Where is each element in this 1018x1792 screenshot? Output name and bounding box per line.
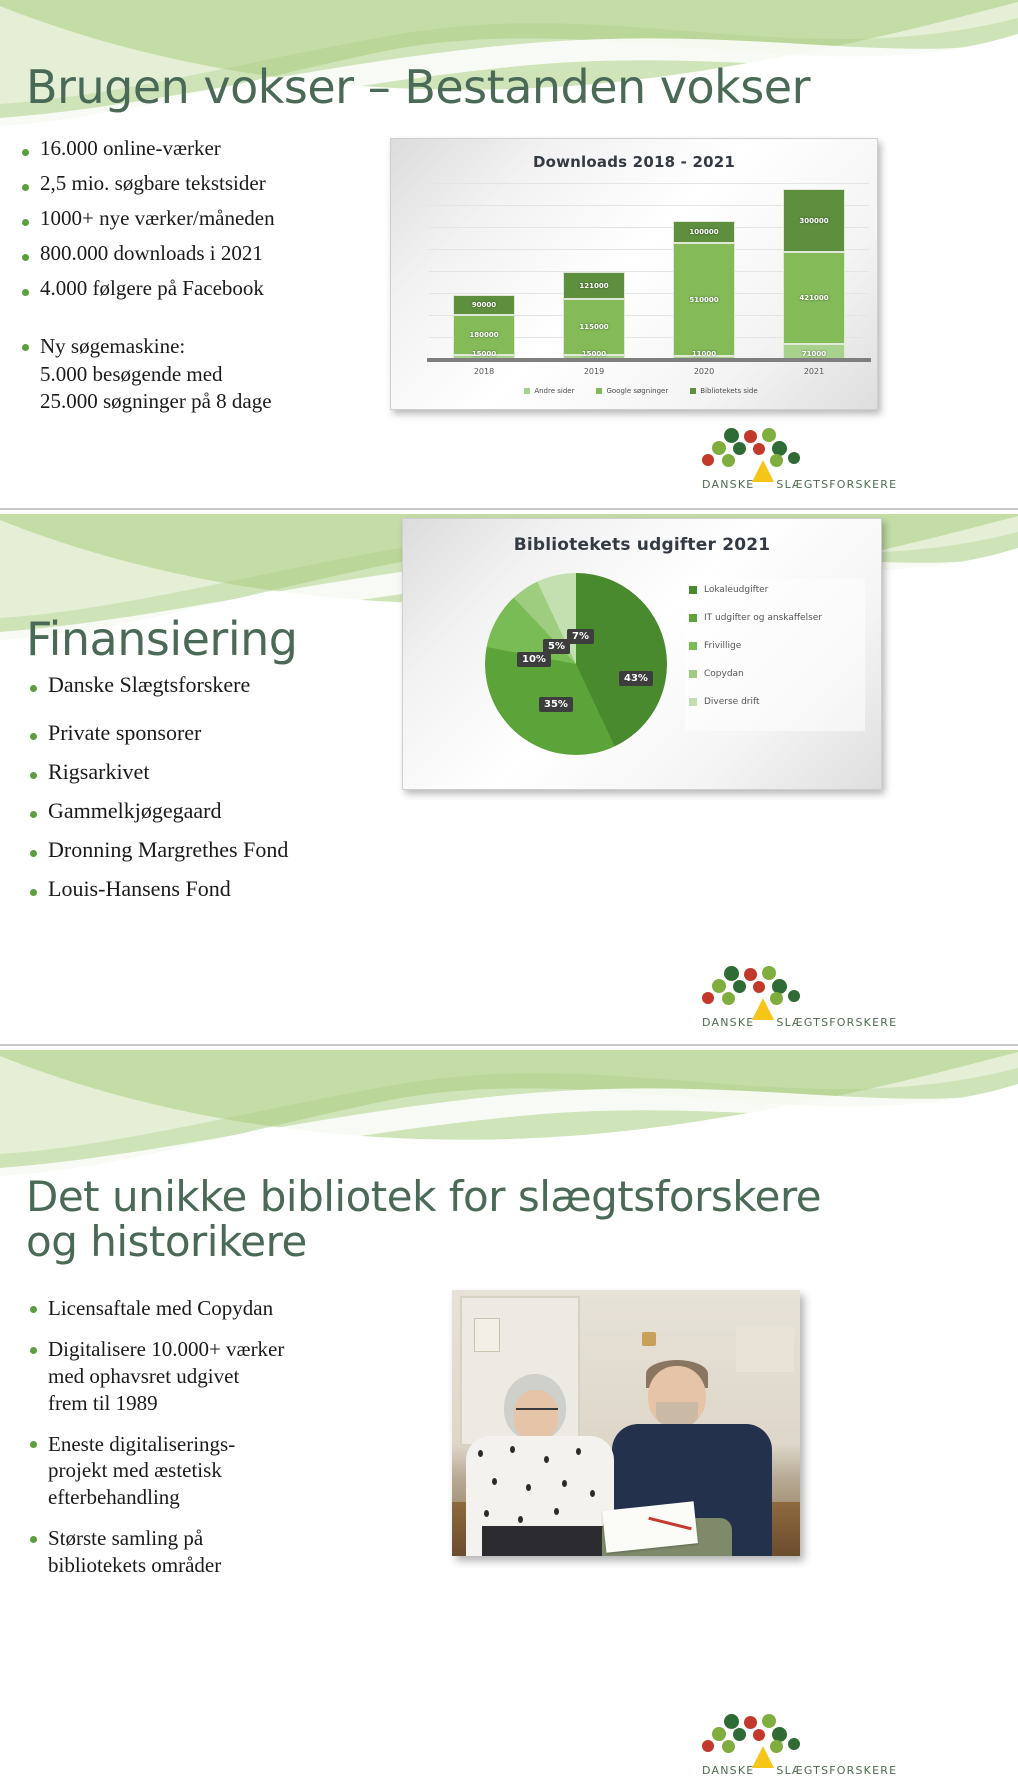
search-engine-line-1: Ny søgemaskine:	[40, 333, 388, 361]
bar-chart-plot-area: 90000 180000 15000 121000	[429, 183, 869, 359]
slide-1: Brugen vokser – Bestanden vokser 16.000 …	[0, 0, 1018, 508]
bar-chart-legend: Andre sider Google søgninger Biblioteket…	[461, 387, 821, 395]
bar-series-group: 90000 180000 15000 121000	[429, 183, 869, 359]
pie-label-lokaleudgifter: 43%	[619, 671, 653, 686]
logo-word-right: SLÆGTSFORSKERE	[776, 478, 897, 491]
list-item-line: Eneste digitaliserings-	[48, 1431, 386, 1458]
list-item: Licensaftale med Copydan	[26, 1295, 386, 1322]
bar-segment-google-2019: 115000	[563, 299, 625, 355]
bar-value-label: 11000	[674, 350, 734, 358]
logo-wordmark: DANSKESLÆGTSFORSKERE	[702, 1764, 897, 1777]
bar-value-label: 100000	[674, 228, 734, 236]
list-item: Største samling på bibliotekets områder	[26, 1525, 386, 1579]
legend-item-google-sogninger: Google søgninger	[596, 387, 668, 395]
logo-danske-slaegtsforskere: DANSKESLÆGTSFORSKERE	[700, 1714, 878, 1778]
bar-value-label: 15000	[564, 350, 624, 358]
list-item: Digitalisere 10.000+ værker med ophavsre…	[26, 1336, 386, 1417]
x-tick-2018: 2018	[453, 367, 515, 376]
list-item-line: med ophavsret udgivet	[48, 1363, 386, 1390]
legend-label: Diverse drift	[704, 697, 760, 707]
page-title: Finansiering	[26, 612, 297, 666]
pie-chart-legend: Lokaleudgifter IT udgifter og anskaffels…	[685, 579, 865, 731]
logo-danske-slaegtsforskere: DANSKESLÆGTSFORSKERE	[700, 428, 878, 492]
page-title: Det unikke bibliotek for slægtsforskere …	[26, 1175, 866, 1264]
list-item-line: projekt med æstetisk	[48, 1457, 386, 1484]
legend-swatch-icon	[689, 642, 697, 650]
legend-item-diverse-drift: Diverse drift	[689, 697, 861, 707]
bullet-list-slide-1: 16.000 online-værker 2,5 mio. søgbare te…	[18, 138, 388, 430]
downloads-bar-chart: Downloads 2018 - 2021 90000	[390, 138, 878, 410]
list-item: Private sponsorer	[26, 722, 386, 744]
logo-danske-slaegtsforskere: DANSKESLÆGTSFORSKERE	[700, 966, 878, 1030]
legend-label: Frivillige	[704, 641, 741, 651]
page-title: Brugen vokser – Bestanden vokser	[26, 60, 810, 114]
legend-swatch-icon	[690, 388, 696, 394]
bar-segment-bibliotekets-side-2020: 100000	[673, 221, 735, 243]
logo-wordmark: DANSKESLÆGTSFORSKERE	[702, 1016, 897, 1029]
pie-chart-graphic	[485, 573, 667, 755]
legend-item-frivillige: Frivillige	[689, 641, 861, 651]
legend-label: Copydan	[704, 669, 744, 679]
chart-title: Downloads 2018 - 2021	[391, 139, 877, 171]
bar-value-label: 15000	[454, 350, 514, 358]
list-item-line: Største samling på	[48, 1525, 386, 1552]
pie-label-diverse-drift: 7%	[567, 629, 594, 644]
page-title-line-2: og historikere	[26, 1220, 866, 1265]
photo-two-people-at-table	[452, 1290, 800, 1556]
logo-word-left: DANSKE	[702, 1764, 754, 1777]
pie-label-copydan: 5%	[543, 639, 570, 654]
legend-swatch-icon	[689, 698, 697, 706]
bar-column-2021: 300000 421000 71000	[783, 183, 845, 359]
list-item-line: Licensaftale med Copydan	[48, 1295, 386, 1322]
logo-word-left: DANSKE	[702, 478, 754, 491]
x-tick-2019: 2019	[563, 367, 625, 376]
pie-label-it-udgifter: 35%	[539, 697, 573, 712]
legend-swatch-icon	[689, 614, 697, 622]
search-engine-line-3: 25.000 søgninger på 8 dage	[40, 388, 388, 416]
slide-2: Finansiering Danske Slægtsforskere Priva…	[0, 514, 1018, 1044]
x-axis-line	[427, 358, 871, 362]
legend-swatch-icon	[689, 670, 697, 678]
legend-label: IT udgifter og anskaffelser	[704, 613, 822, 623]
list-item: 2,5 mio. søgbare tekstsider	[18, 173, 388, 194]
expenses-pie-chart: Bibliotekets udgifter 2021 43% 35% 10% 5…	[402, 518, 882, 790]
legend-label: Bibliotekets side	[700, 387, 757, 395]
legend-item-copydan: Copydan	[689, 669, 861, 679]
presentation-deck: Brugen vokser – Bestanden vokser 16.000 …	[0, 0, 1018, 1780]
pie-label-frivillige: 10%	[517, 652, 551, 667]
bar-value-label: 421000	[784, 294, 844, 302]
logo-wordmark: DANSKESLÆGTSFORSKERE	[702, 478, 897, 491]
bar-segment-google-2018: 180000	[453, 315, 515, 355]
logo-word-left: DANSKE	[702, 1016, 754, 1029]
legend-label: Andre sider	[534, 387, 574, 395]
list-item: Danske Slægtsforskere	[26, 674, 386, 696]
bar-column-2019: 121000 115000 15000	[563, 183, 625, 359]
list-item: Rigsarkivet	[26, 761, 386, 783]
chart-title: Bibliotekets udgifter 2021	[403, 519, 881, 555]
list-item-search-engine: Ny søgemaskine: 5.000 besøgende med 25.0…	[18, 333, 388, 416]
page-title-line-1: Det unikke bibliotek for slægtsforskere	[26, 1175, 866, 1220]
x-tick-2020: 2020	[673, 367, 735, 376]
bar-value-label: 510000	[674, 296, 734, 304]
bullet-list-slide-2: Danske Slægtsforskere Private sponsorer …	[26, 674, 386, 917]
list-item: 4.000 følgere på Facebook	[18, 278, 388, 299]
bar-value-label: 300000	[784, 217, 844, 225]
list-item-line: Digitalisere 10.000+ værker	[48, 1336, 386, 1363]
legend-label: Google søgninger	[606, 387, 668, 395]
list-item: 800.000 downloads i 2021	[18, 243, 388, 264]
logo-word-right: SLÆGTSFORSKERE	[776, 1016, 897, 1029]
legend-item-bibliotekets-side: Bibliotekets side	[690, 387, 757, 395]
bar-segment-google-2020: 510000	[673, 243, 735, 356]
list-item: Gammelkjøgegaard	[26, 800, 386, 822]
search-engine-line-2: 5.000 besøgende med	[40, 361, 388, 389]
legend-label: Lokaleudgifter	[704, 585, 768, 595]
bar-column-2020: 100000 510000 11000	[673, 183, 735, 359]
decorative-swoosh-banner	[0, 1050, 1018, 1185]
bar-column-2018: 90000 180000 15000	[453, 183, 515, 359]
bar-segment-bibliotekets-side-2018: 90000	[453, 295, 515, 315]
legend-swatch-icon	[596, 388, 602, 394]
legend-swatch-icon	[689, 586, 697, 594]
logo-word-right: SLÆGTSFORSKERE	[776, 1764, 897, 1777]
list-item: 1000+ nye værker/måneden	[18, 208, 388, 229]
list-item: Dronning Margrethes Fond	[26, 839, 386, 861]
bar-segment-google-2021: 421000	[783, 252, 845, 344]
bar-segment-bibliotekets-side-2021: 300000	[783, 189, 845, 252]
x-tick-2021: 2021	[783, 367, 845, 376]
bar-value-label: 115000	[564, 323, 624, 331]
list-item: Louis-Hansens Fond	[26, 878, 386, 900]
list-item: 16.000 online-værker	[18, 138, 388, 159]
bar-value-label: 90000	[454, 301, 514, 309]
bullet-list-slide-3: Licensaftale med Copydan Digitalisere 10…	[26, 1295, 386, 1593]
legend-item-andre-sider: Andre sider	[524, 387, 574, 395]
slide-3: Det unikke bibliotek for slægtsforskere …	[0, 1050, 1018, 1792]
bar-value-label: 180000	[454, 331, 514, 339]
legend-swatch-icon	[524, 388, 530, 394]
list-item-line: bibliotekets områder	[48, 1552, 386, 1579]
x-axis-tick-labels: 2018 2019 2020 2021	[429, 367, 869, 376]
list-item-line: frem til 1989	[48, 1390, 386, 1417]
bar-segment-andre-sider-2021: 71000	[783, 344, 845, 359]
bar-segment-bibliotekets-side-2019: 121000	[563, 272, 625, 299]
legend-item-lokaleudgifter: Lokaleudgifter	[689, 585, 861, 595]
bar-value-label: 71000	[784, 350, 844, 358]
bar-value-label: 121000	[564, 282, 624, 290]
list-item-line: efterbehandling	[48, 1484, 386, 1511]
legend-item-it-udgifter: IT udgifter og anskaffelser	[689, 613, 861, 623]
list-item: Eneste digitaliserings- projekt med æste…	[26, 1431, 386, 1512]
